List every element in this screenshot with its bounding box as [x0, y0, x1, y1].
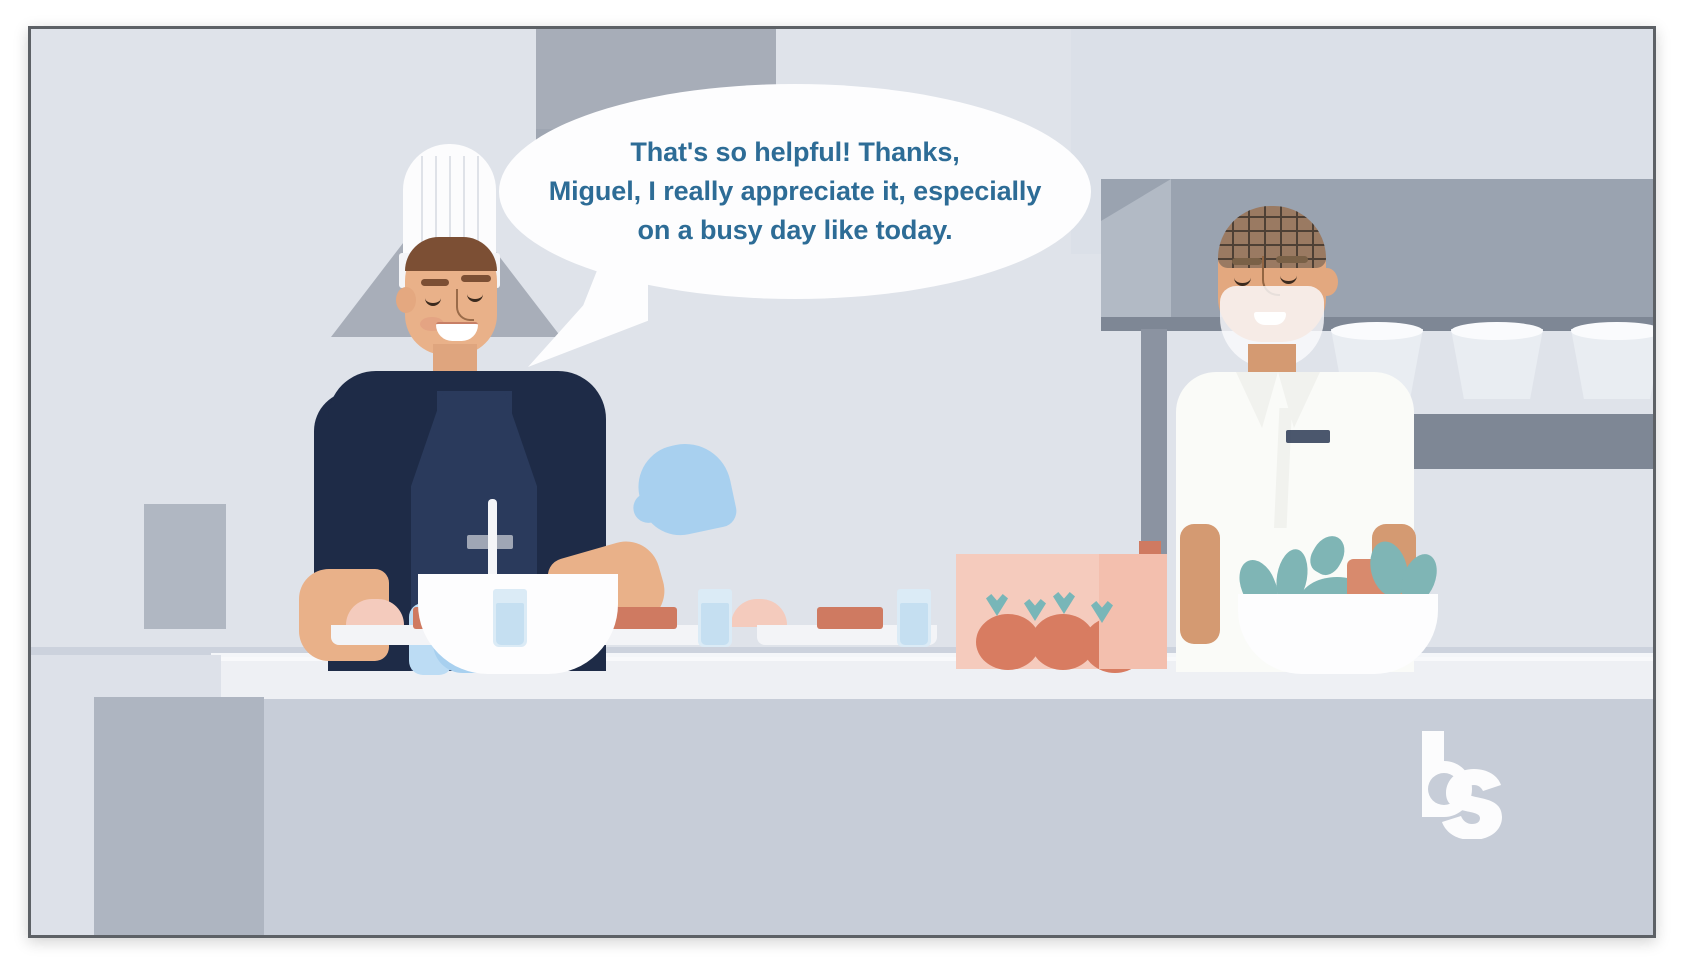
- miguel-arm-left: [1180, 524, 1220, 644]
- screenshot-root: That's so helpful! Thanks, Miguel, I rea…: [0, 0, 1688, 970]
- water-glass: [493, 589, 527, 647]
- shelf-cup-rim: [1451, 322, 1543, 340]
- video-frame[interactable]: That's so helpful! Thanks, Miguel, I rea…: [28, 26, 1656, 938]
- greens-bowl: [1238, 594, 1438, 674]
- miguel-eyebrow-left: [1232, 258, 1262, 265]
- water-glass: [698, 589, 732, 647]
- miguel-mouth: [1254, 312, 1286, 325]
- bs-logo-watermark: [1416, 729, 1506, 839]
- food-item-red: [611, 607, 677, 629]
- miguel-eyebrow-right: [1276, 256, 1308, 263]
- water-glass: [897, 589, 931, 647]
- chef-glove-right: [631, 435, 740, 542]
- wall-box: [144, 504, 226, 629]
- kitchen-scene: That's so helpful! Thanks, Miguel, I rea…: [31, 29, 1653, 935]
- chef-eyebrow-left: [421, 279, 449, 286]
- food-item-red: [817, 607, 883, 629]
- crate-side-panel: [1099, 554, 1167, 669]
- chef-eyebrow-right: [461, 275, 491, 282]
- speech-bubble: That's so helpful! Thanks, Miguel, I rea…: [499, 84, 1091, 299]
- counter-front-panel: [31, 699, 1653, 935]
- speech-bubble-text: That's so helpful! Thanks, Miguel, I rea…: [523, 133, 1068, 250]
- shelf-cup-rim: [1571, 322, 1653, 340]
- counter-lower-box: [94, 697, 264, 935]
- shelf-unit-leg: [1141, 329, 1167, 554]
- miguel-shirt-logo: [1286, 430, 1330, 443]
- chef-ear: [396, 287, 416, 313]
- chef-nose: [456, 289, 474, 321]
